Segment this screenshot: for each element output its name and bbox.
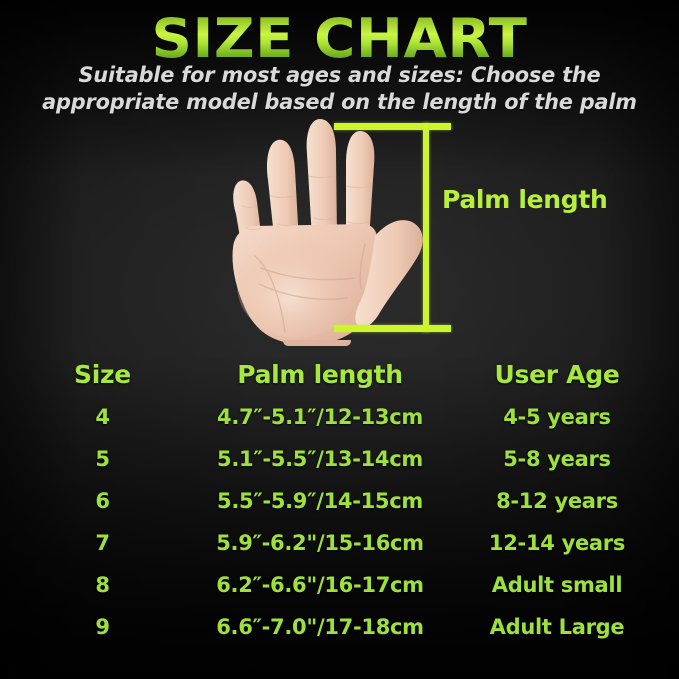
column-header-size: Size [0, 360, 205, 389]
cell-size: 7 [0, 531, 205, 555]
size-chart-graphic: SIZE CHART Suitable for most ages and si… [0, 0, 679, 679]
cell-user-age: 8-12 years [435, 489, 679, 513]
cell-size: 9 [0, 615, 205, 639]
cell-user-age: Adult small [435, 573, 679, 597]
cell-user-age: 4-5 years [435, 405, 679, 429]
measurement-top-cap [334, 123, 451, 130]
table-header-row: Size Palm length User Age [0, 352, 679, 396]
cell-size: 4 [0, 405, 205, 429]
measurement-bottom-cap [334, 325, 451, 332]
cell-palm-length: 6.2″-6.6"/16-17cm [205, 573, 435, 597]
table-row: 9 6.6″-7.0"/17-18cm Adult Large [0, 606, 679, 648]
cell-user-age: 5-8 years [435, 447, 679, 471]
cell-size: 8 [0, 573, 205, 597]
table-row: 7 5.9″-6.2"/15-16cm 12-14 years [0, 522, 679, 564]
cell-size: 6 [0, 489, 205, 513]
measurement-label: Palm length [442, 185, 608, 214]
table-row: 4 4.7″-5.1″/12-13cm 4-5 years [0, 396, 679, 438]
page-title: SIZE CHART [0, 8, 679, 70]
table-row: 8 6.2″-6.6"/16-17cm Adult small [0, 564, 679, 606]
size-table: Size Palm length User Age 4 4.7″-5.1″/12… [0, 352, 679, 648]
column-header-user-age: User Age [435, 360, 679, 389]
cell-palm-length: 4.7″-5.1″/12-13cm [205, 405, 435, 429]
cell-user-age: Adult Large [435, 615, 679, 639]
cell-palm-length: 5.5″-5.9″/14-15cm [205, 489, 435, 513]
cell-palm-length: 6.6″-7.0"/17-18cm [205, 615, 435, 639]
table-row: 5 5.1″-5.5″/13-14cm 5-8 years [0, 438, 679, 480]
page-subtitle: Suitable for most ages and sizes: Choose… [24, 62, 655, 116]
cell-user-age: 12-14 years [435, 531, 679, 555]
measurement-vertical-line [423, 123, 429, 332]
cell-size: 5 [0, 447, 205, 471]
cell-palm-length: 5.9″-6.2"/15-16cm [205, 531, 435, 555]
table-row: 6 5.5″-5.9″/14-15cm 8-12 years [0, 480, 679, 522]
cell-palm-length: 5.1″-5.5″/13-14cm [205, 447, 435, 471]
column-header-palm-length: Palm length [205, 360, 435, 389]
